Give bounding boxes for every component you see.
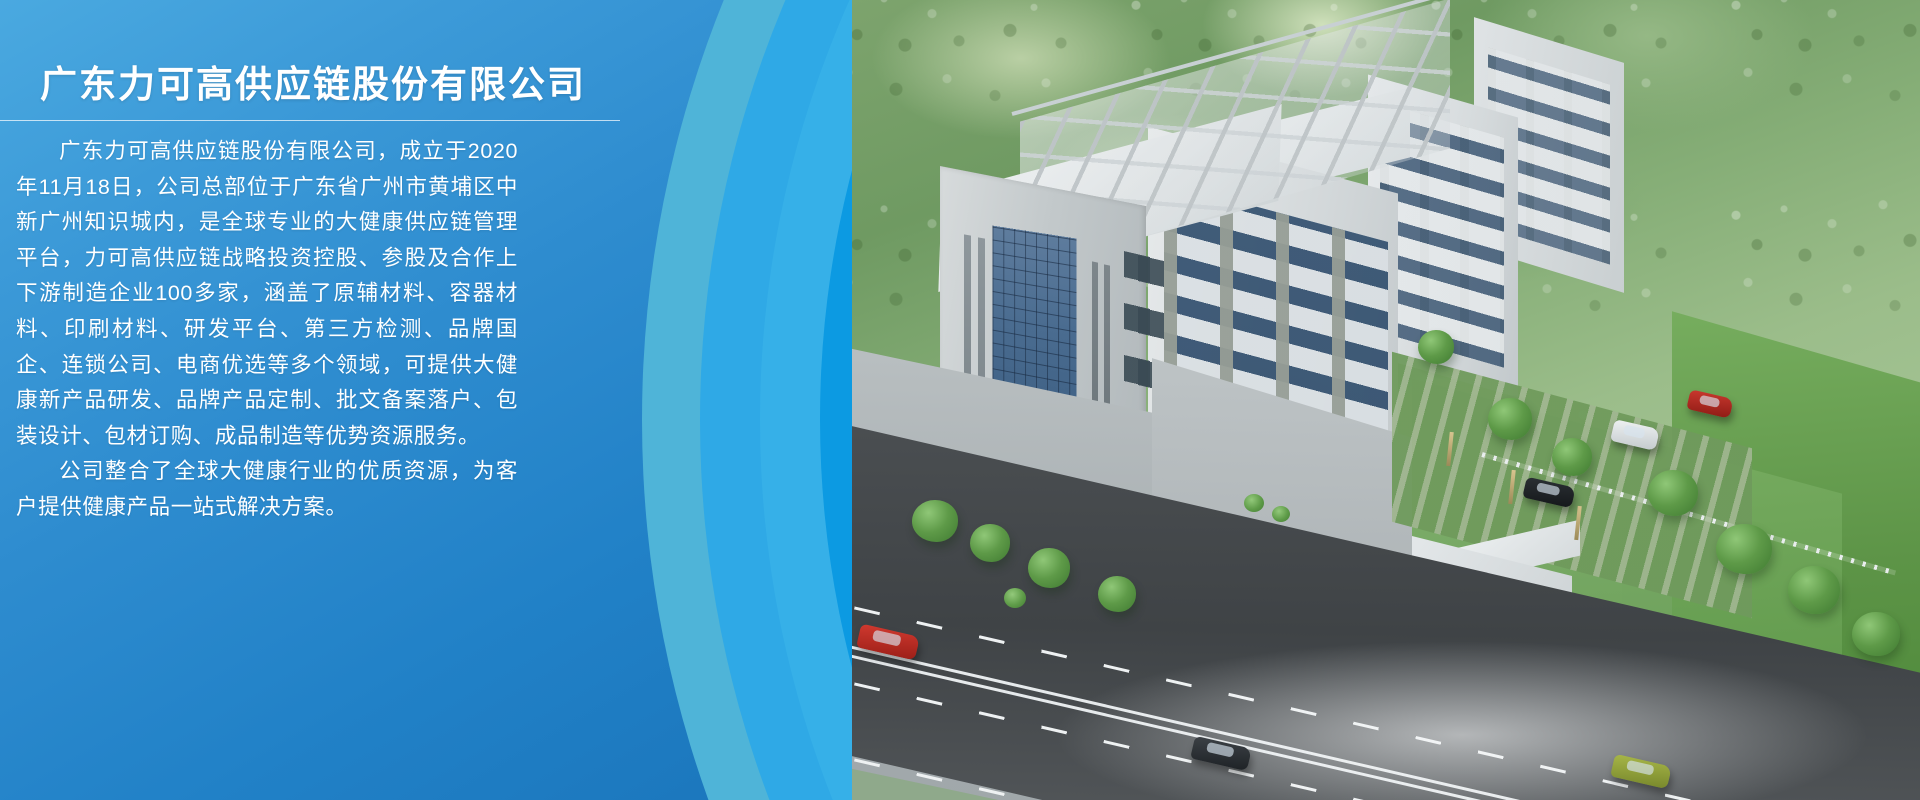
tree [1028, 548, 1070, 588]
tree [1098, 576, 1136, 612]
tree [970, 524, 1010, 562]
company-description: 广东力可高供应链股份有限公司，成立于2020年11月18日，公司总部位于广东省广… [16, 134, 518, 526]
industrial-park-render: 中新知识城产业园 [852, 0, 1920, 800]
paragraph-2: 公司整合了全球大健康行业的优质资源，为客户提供健康产品一站式解决方案。 [16, 454, 518, 525]
paragraph-1: 广东力可高供应链股份有限公司，成立于2020年11月18日，公司总部位于广东省广… [16, 134, 518, 454]
company-profile-banner: 中新知识城产业园 [0, 0, 1920, 800]
tree [1488, 398, 1532, 440]
tree [1552, 438, 1592, 476]
tree [912, 500, 958, 542]
tree [1418, 330, 1454, 364]
page-title: 广东力可高供应链股份有限公司 [40, 54, 586, 108]
shrub [1004, 588, 1026, 608]
road-haze-overlay [1052, 640, 1872, 800]
text-column: 广东力可高供应链股份有限公司 广东力可高供应链股份有限公司，成立于2020年11… [0, 0, 620, 800]
tree [1788, 566, 1840, 614]
photo-arc-mask: 中新知识城产业园 [700, 0, 1920, 800]
tree [1648, 470, 1698, 516]
tree [1716, 524, 1772, 574]
shrub [1272, 506, 1290, 522]
tree [1852, 612, 1900, 656]
title-divider [0, 120, 620, 121]
shrub [1244, 494, 1264, 512]
